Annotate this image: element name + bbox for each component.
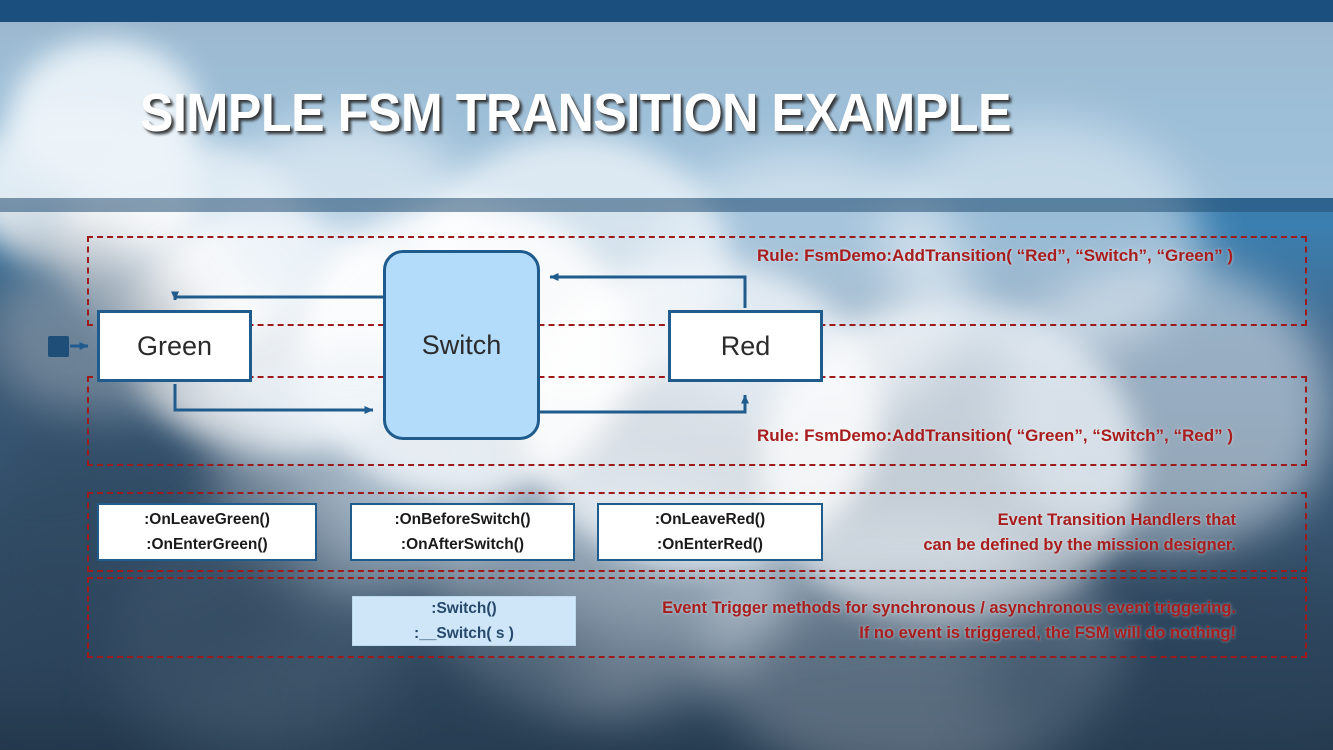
triggers-note: Event Trigger methods for synchronous / … <box>662 596 1236 646</box>
handler-line-1: :OnLeaveRed() <box>655 507 765 532</box>
arrow-red-to-switch <box>550 277 745 308</box>
state-label: Red <box>721 331 771 362</box>
state-label: Green <box>137 331 212 362</box>
trigger-box-switch[interactable]: :Switch() :__Switch( s ) <box>352 596 576 646</box>
handler-box-red[interactable]: :OnLeaveRed() :OnEnterRed() <box>597 503 823 561</box>
start-marker <box>48 336 69 357</box>
event-label: Switch <box>422 330 502 361</box>
legend: STATE Event SUB-FSM Start.. ..End <box>0 700 1333 745</box>
handler-line-2: :OnAfterSwitch() <box>401 532 524 557</box>
trigger-line-2: :__Switch( s ) <box>414 621 514 646</box>
state-node-green[interactable]: Green <box>97 310 252 382</box>
handler-box-green[interactable]: :OnLeaveGreen() :OnEnterGreen() <box>97 503 317 561</box>
arrow-switch-to-green <box>175 297 383 300</box>
event-node-switch[interactable]: Switch <box>383 250 540 440</box>
handlers-note-line-2: can be defined by the mission designer. <box>923 533 1236 558</box>
handlers-note: Event Transition Handlers that can be de… <box>923 508 1236 558</box>
state-node-red[interactable]: Red <box>668 310 823 382</box>
handler-line-2: :OnEnterRed() <box>657 532 763 557</box>
arrow-green-to-switch <box>175 384 373 410</box>
rule-text-green-switch-red: Rule: FsmDemo:AddTransition( “Green”, “S… <box>757 426 1233 446</box>
handler-line-2: :OnEnterGreen() <box>146 532 267 557</box>
rule-text-red-switch-green: Rule: FsmDemo:AddTransition( “Red”, “Swi… <box>757 246 1233 266</box>
trigger-line-1: :Switch() <box>431 596 496 621</box>
handler-box-switch[interactable]: :OnBeforeSwitch() :OnAfterSwitch() <box>350 503 575 561</box>
slide-canvas: SIMPLE FSM TRANSITION EXAMPLE Green <box>0 0 1333 750</box>
handler-line-1: :OnBeforeSwitch() <box>394 507 530 532</box>
arrow-switch-to-red <box>540 395 745 412</box>
triggers-note-line-2: If no event is triggered, the FSM will d… <box>662 621 1236 646</box>
triggers-note-line-1: Event Trigger methods for synchronous / … <box>662 596 1236 621</box>
handler-line-1: :OnLeaveGreen() <box>144 507 270 532</box>
handlers-note-line-1: Event Transition Handlers that <box>923 508 1236 533</box>
